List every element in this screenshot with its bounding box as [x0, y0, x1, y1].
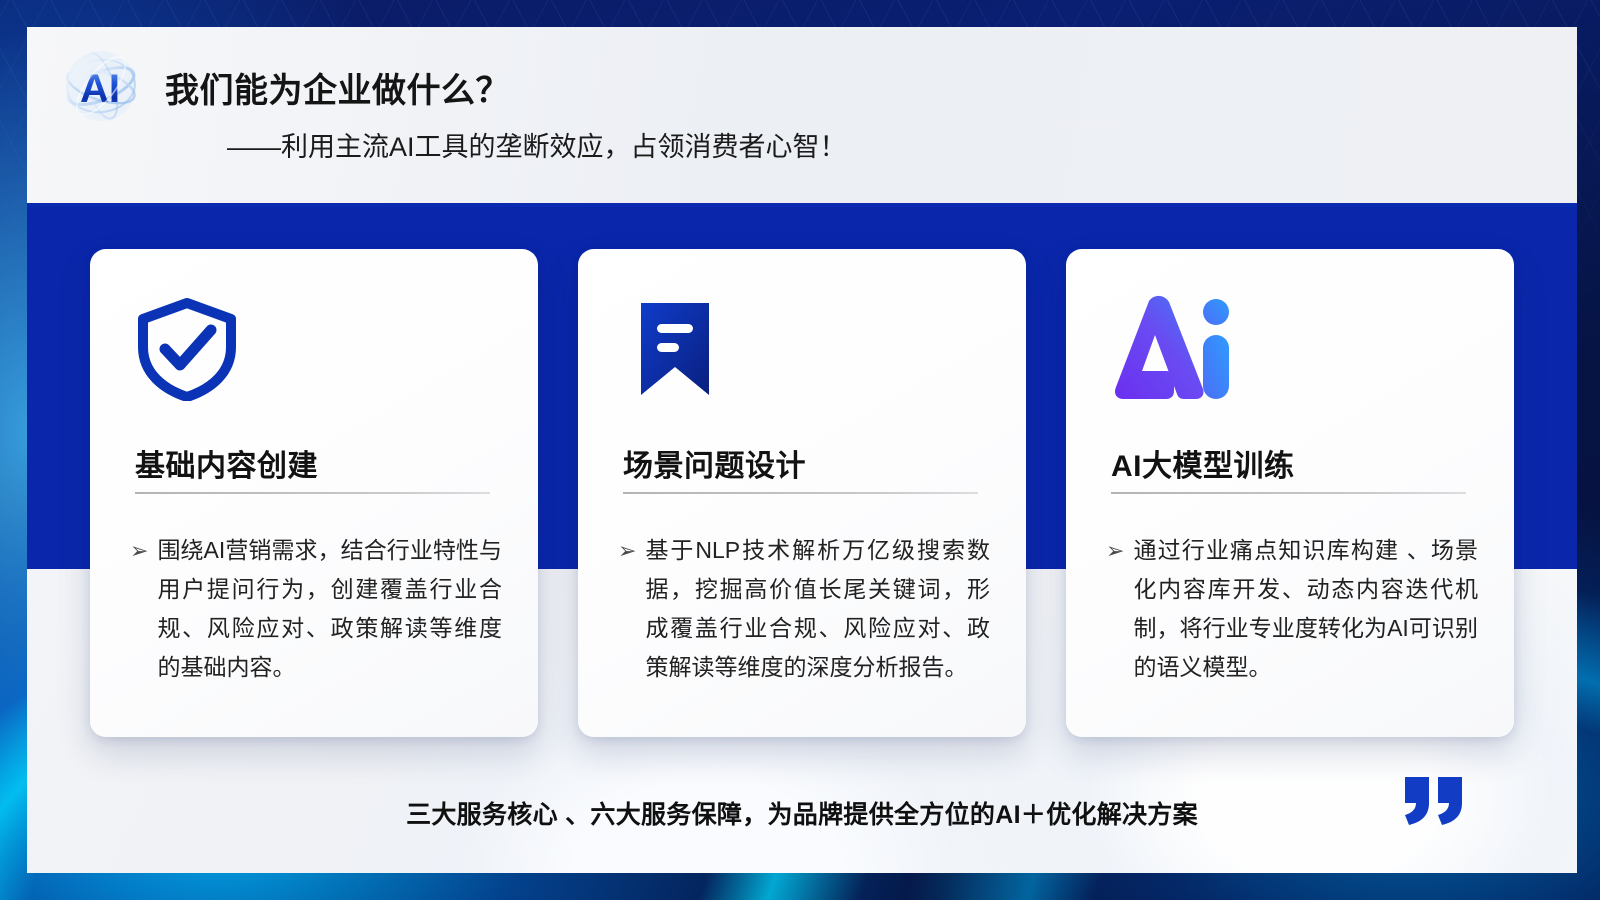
bullet-arrow-icon: ➢: [130, 531, 148, 687]
card-body: ➢ 通过行业痛点知识库构建 、场景化内容库开发、动态内容迭代机制，将行业专业度转…: [1106, 531, 1478, 687]
card-title: 场景问题设计: [623, 441, 806, 485]
bookmark-lines-icon: [623, 297, 727, 401]
card-body: ➢ 围绕AI营销需求，结合行业特性与用户提问行为，创建覆盖行业合规、风险应对、政…: [130, 531, 502, 687]
card-divider: [623, 492, 978, 494]
feature-card-list: 基础内容创建 ➢ 围绕AI营销需求，结合行业特性与用户提问行为，创建覆盖行业合规…: [90, 249, 1514, 737]
bullet-arrow-icon: ➢: [1106, 531, 1124, 687]
feature-card[interactable]: 基础内容创建 ➢ 围绕AI营销需求，结合行业特性与用户提问行为，创建覆盖行业合规…: [90, 249, 538, 737]
card-title: 基础内容创建: [135, 441, 318, 485]
page-title: 我们能为企业做什么？: [165, 63, 510, 112]
card-description: 通过行业痛点知识库构建 、场景化内容库开发、动态内容迭代机制，将行业专业度转化为…: [1133, 531, 1478, 687]
ai-gradient-logo-icon: [1111, 291, 1235, 403]
page-subtitle: ——利用主流AI工具的垄断效应，占领消费者心智！: [227, 125, 847, 164]
card-title: AI大模型训练: [1111, 441, 1295, 485]
card-description: 围绕AI营销需求，结合行业特性与用户提问行为，创建覆盖行业合规、风险应对、政策解…: [157, 531, 502, 687]
slide-footer: 三大服务核心 、六大服务保障，为品牌提供全方位的AI＋优化解决方案: [27, 769, 1577, 873]
card-body: ➢ 基于NLP技术解析万亿级搜索数据，挖掘高价值长尾关键词，形成覆盖行业合规、风…: [618, 531, 990, 687]
feature-card[interactable]: AI大模型训练 ➢ 通过行业痛点知识库构建 、场景化内容库开发、动态内容迭代机制…: [1066, 249, 1514, 737]
slide-canvas: AI 我们能为企业做什么？ ——利用主流AI工具的垄断效应，占领消费者心智！: [27, 27, 1577, 873]
feature-card[interactable]: 场景问题设计 ➢ 基于NLP技术解析万亿级搜索数据，挖掘高价值长尾关键词，形成覆…: [578, 249, 1026, 737]
card-divider: [135, 492, 490, 494]
bullet-arrow-icon: ➢: [618, 531, 636, 687]
closing-quote-icon: [1405, 777, 1467, 830]
card-description: 基于NLP技术解析万亿级搜索数据，挖掘高价值长尾关键词，形成覆盖行业合规、风险应…: [645, 531, 990, 687]
slide-stage: AI 我们能为企业做什么？ ——利用主流AI工具的垄断效应，占领消费者心智！: [0, 0, 1600, 900]
slide-header: AI 我们能为企业做什么？ ——利用主流AI工具的垄断效应，占领消费者心智！: [27, 27, 1577, 203]
svg-text:AI: AI: [80, 67, 120, 111]
shield-check-icon: [135, 297, 239, 401]
footer-caption: 三大服务核心 、六大服务保障，为品牌提供全方位的AI＋优化解决方案: [27, 795, 1577, 831]
card-divider: [1111, 492, 1466, 494]
ai-globe-logo-icon: AI: [55, 40, 147, 132]
